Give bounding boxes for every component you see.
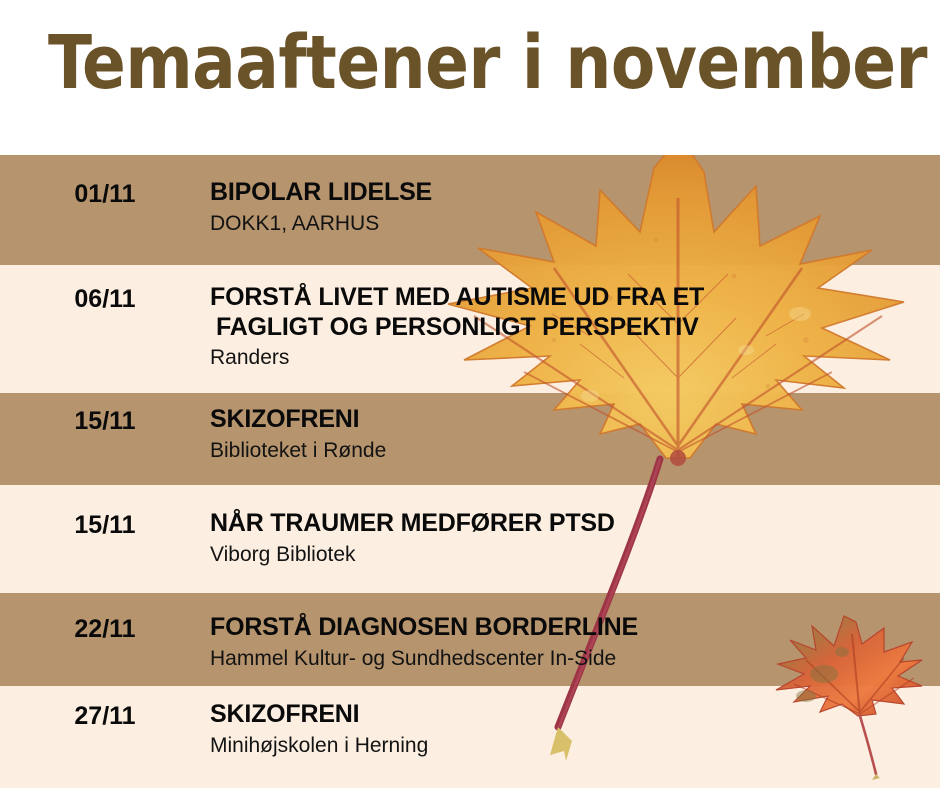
event-title: SKIZOFRENI xyxy=(210,405,940,435)
event-title: NÅR TRAUMER MEDFØRER PTSD xyxy=(210,509,940,539)
event-title: BIPOLAR LIDELSE xyxy=(210,178,940,208)
event-row-4[interactable]: 15/11 NÅR TRAUMER MEDFØRER PTSD Viborg B… xyxy=(0,509,940,567)
event-date: 01/11 xyxy=(0,178,210,236)
event-date: 15/11 xyxy=(0,509,210,567)
event-date: 27/11 xyxy=(0,700,210,758)
event-title: FORSTÅ DIAGNOSEN BORDERLINE xyxy=(210,613,940,643)
event-date: 15/11 xyxy=(0,405,210,463)
event-body: FORSTÅ LIVET MED AUTISME UD FRA ET FAGLI… xyxy=(210,283,940,370)
event-title: SKIZOFRENI xyxy=(210,700,940,730)
event-venue: Biblioteket i Rønde xyxy=(210,438,940,463)
event-row-1[interactable]: 01/11 BIPOLAR LIDELSE DOKK1, AARHUS xyxy=(0,178,940,236)
event-venue: Randers xyxy=(210,345,940,370)
event-row-3[interactable]: 15/11 SKIZOFRENI Biblioteket i Rønde xyxy=(0,405,940,463)
event-date: 06/11 xyxy=(0,283,210,370)
event-row-6[interactable]: 27/11 SKIZOFRENI Minihøjskolen i Herning xyxy=(0,700,940,758)
poster-canvas: Temaaftener i november 01/11 BIPOLAR LID… xyxy=(0,0,940,788)
event-body: NÅR TRAUMER MEDFØRER PTSD Viborg Bibliot… xyxy=(210,509,940,567)
event-row-5[interactable]: 22/11 FORSTÅ DIAGNOSEN BORDERLINE Hammel… xyxy=(0,613,940,671)
event-body: SKIZOFRENI Biblioteket i Rønde xyxy=(210,405,940,463)
event-venue: Viborg Bibliotek xyxy=(210,542,940,567)
event-venue: Minihøjskolen i Herning xyxy=(210,733,940,758)
event-body: SKIZOFRENI Minihøjskolen i Herning xyxy=(210,700,940,758)
event-date: 22/11 xyxy=(0,613,210,671)
page-title: Temaaftener i november xyxy=(48,26,927,100)
event-title-line2: FAGLIGT OG PERSONLIGT PERSPEKTIV xyxy=(216,313,940,343)
event-body: BIPOLAR LIDELSE DOKK1, AARHUS xyxy=(210,178,940,236)
header: Temaaftener i november xyxy=(0,0,940,155)
event-title: FORSTÅ LIVET MED AUTISME UD FRA ET xyxy=(210,283,940,313)
event-row-2[interactable]: 06/11 FORSTÅ LIVET MED AUTISME UD FRA ET… xyxy=(0,283,940,370)
event-venue: DOKK1, AARHUS xyxy=(210,211,940,236)
event-venue: Hammel Kultur- og Sundhedscenter In-Side xyxy=(210,646,940,671)
event-body: FORSTÅ DIAGNOSEN BORDERLINE Hammel Kultu… xyxy=(210,613,940,671)
